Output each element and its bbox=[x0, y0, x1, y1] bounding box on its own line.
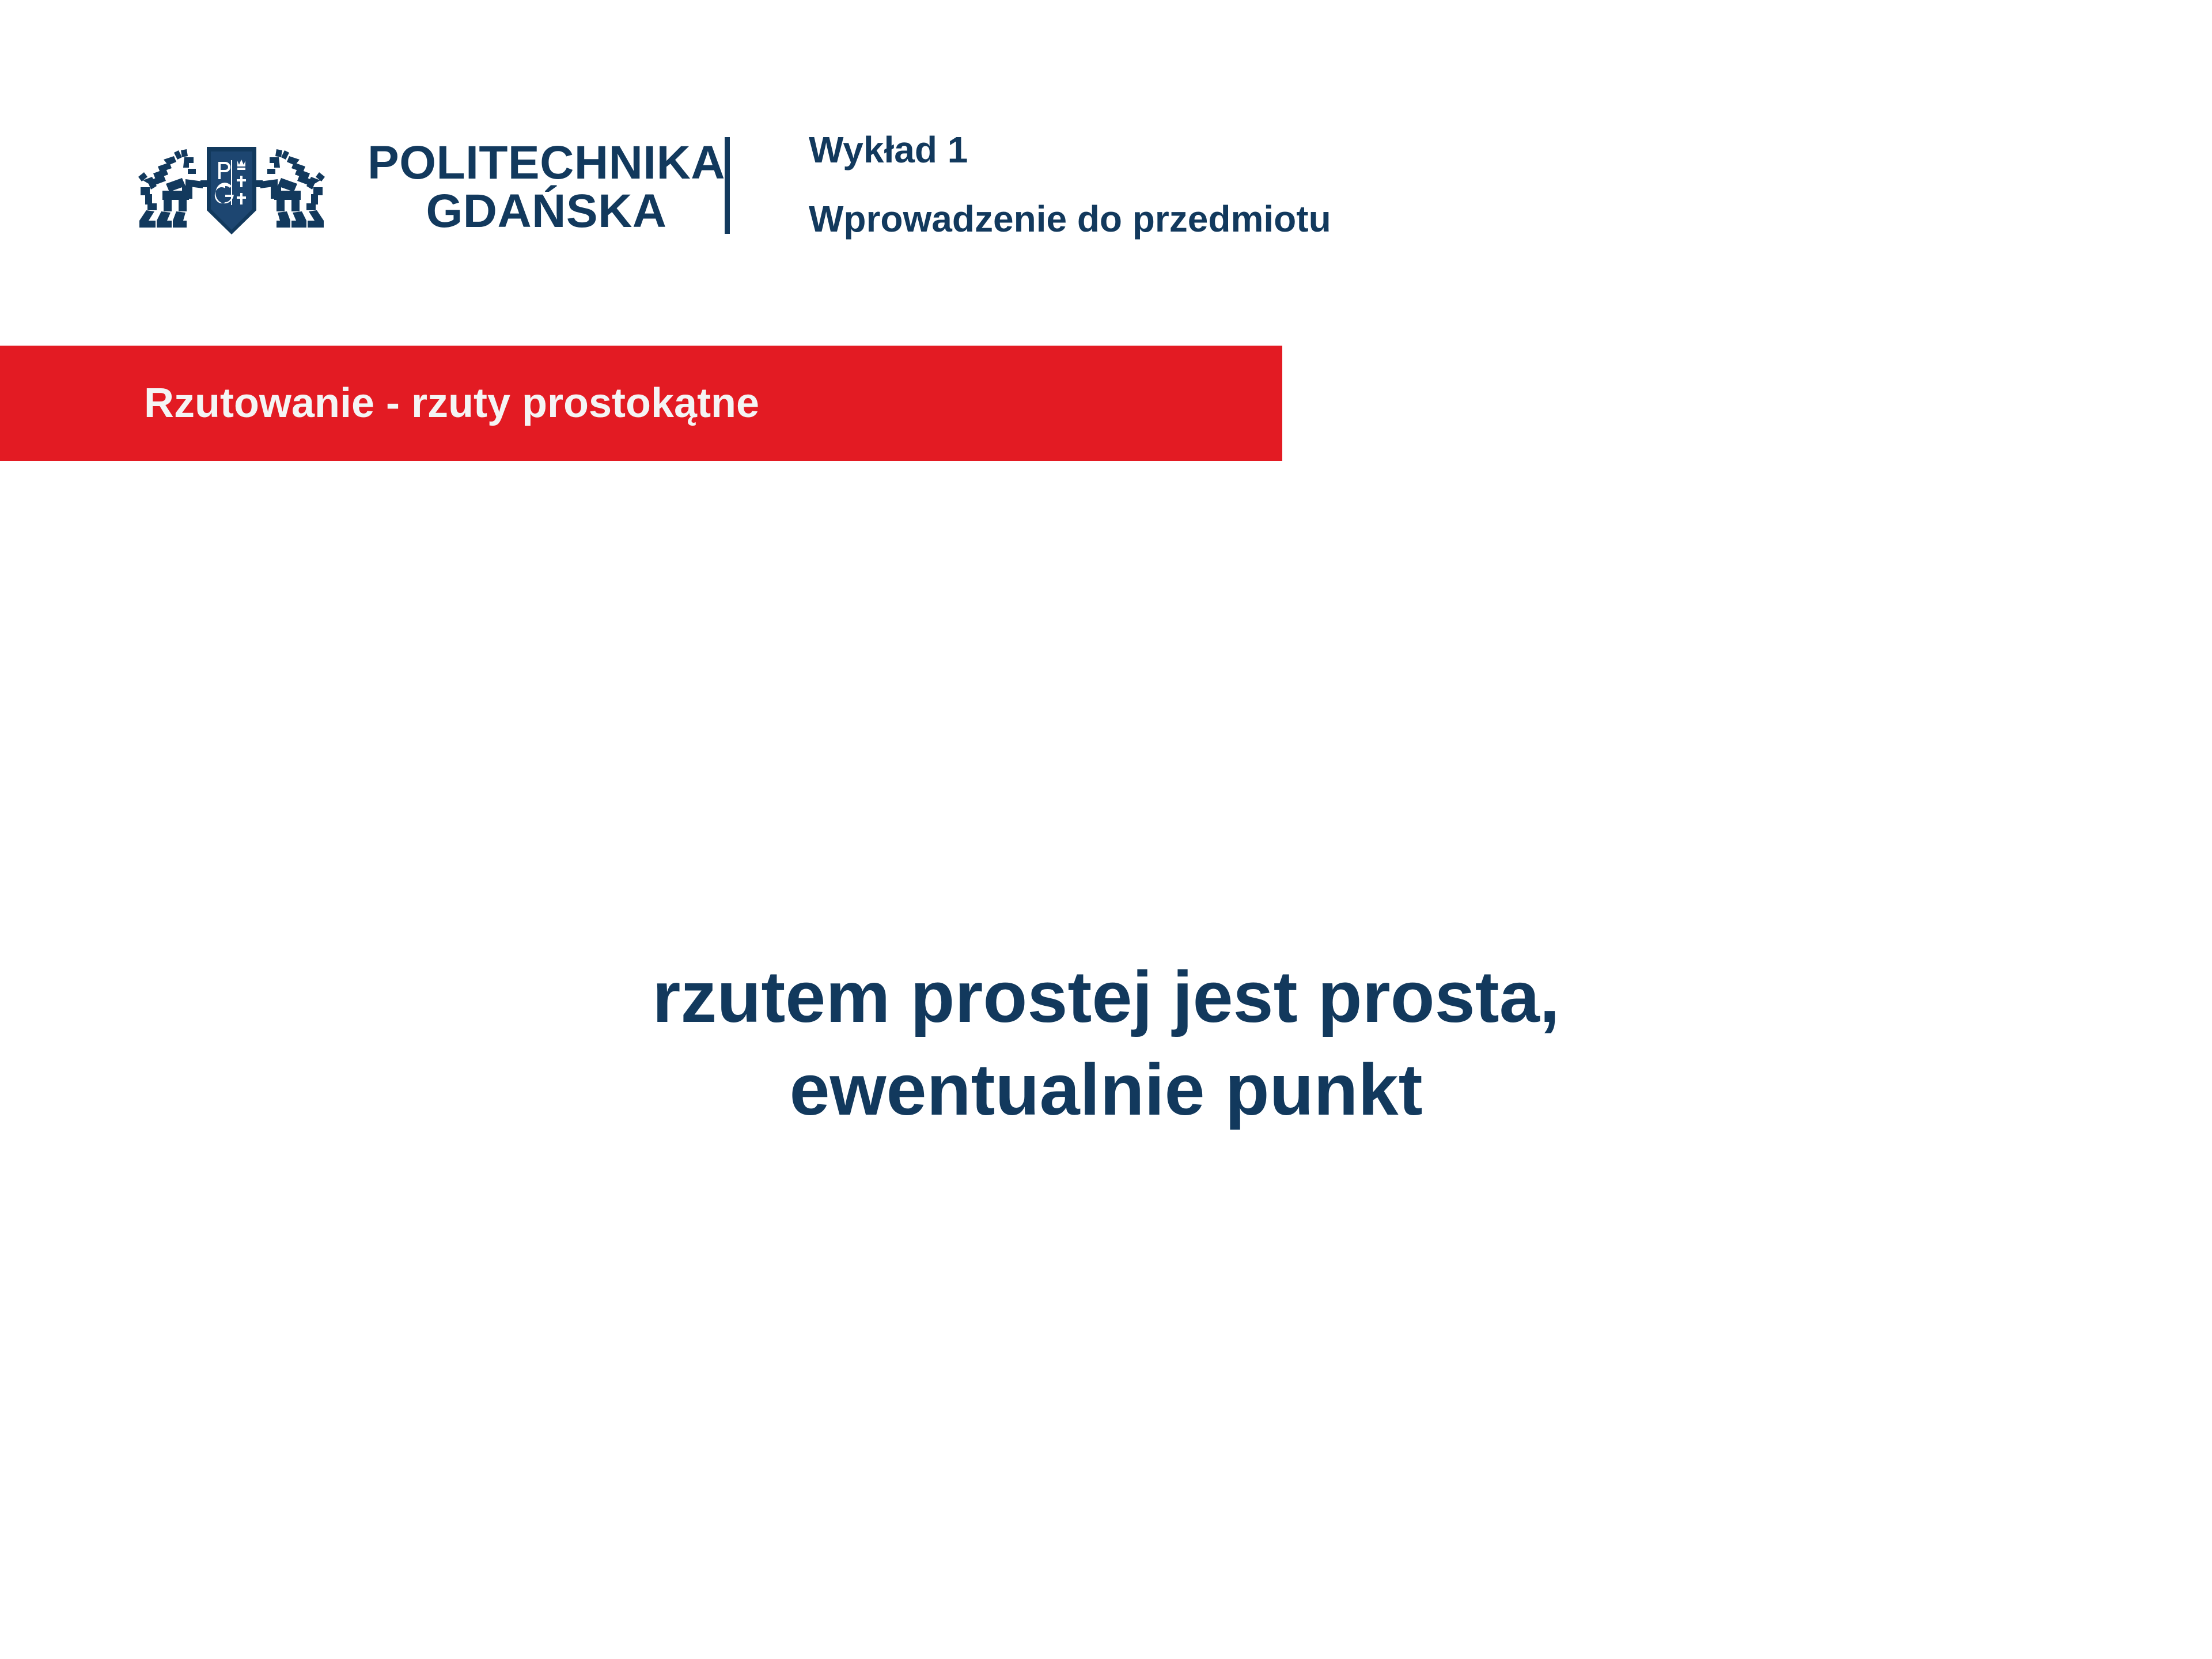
main-statement-line2: ewentualnie punkt bbox=[0, 1043, 2212, 1136]
university-name-line1: POLITECHNIKA bbox=[368, 139, 725, 187]
slide-canvas: POLITECHNIKA GDAŃSKA Wykład 1 Wprowadzen… bbox=[0, 0, 2212, 1659]
slide-header: POLITECHNIKA GDAŃSKA Wykład 1 Wprowadzen… bbox=[0, 0, 2212, 300]
main-statement: rzutem prostej jest prosta, ewentualnie … bbox=[0, 950, 2212, 1137]
university-name-line2: GDAŃSKA bbox=[368, 187, 725, 236]
section-title-banner: Rzutowanie - rzuty prostokątne bbox=[0, 346, 1282, 461]
slide-body: rzutem prostej jest prosta, ewentualnie … bbox=[0, 461, 2212, 1659]
university-name: POLITECHNIKA GDAŃSKA bbox=[368, 139, 725, 235]
pg-crest-logo bbox=[128, 124, 335, 251]
lecture-info: Wykład 1 Wprowadzenie do przedmiotu bbox=[809, 131, 1331, 237]
university-branding: POLITECHNIKA GDAŃSKA bbox=[128, 124, 725, 251]
lecture-number: Wykład 1 bbox=[809, 131, 1331, 168]
main-statement-line1: rzutem prostej jest prosta, bbox=[0, 950, 2212, 1043]
header-divider bbox=[725, 137, 730, 234]
lecture-subject: Wprowadzenie do przedmiotu bbox=[809, 200, 1331, 237]
section-title: Rzutowanie - rzuty prostokątne bbox=[144, 382, 759, 424]
